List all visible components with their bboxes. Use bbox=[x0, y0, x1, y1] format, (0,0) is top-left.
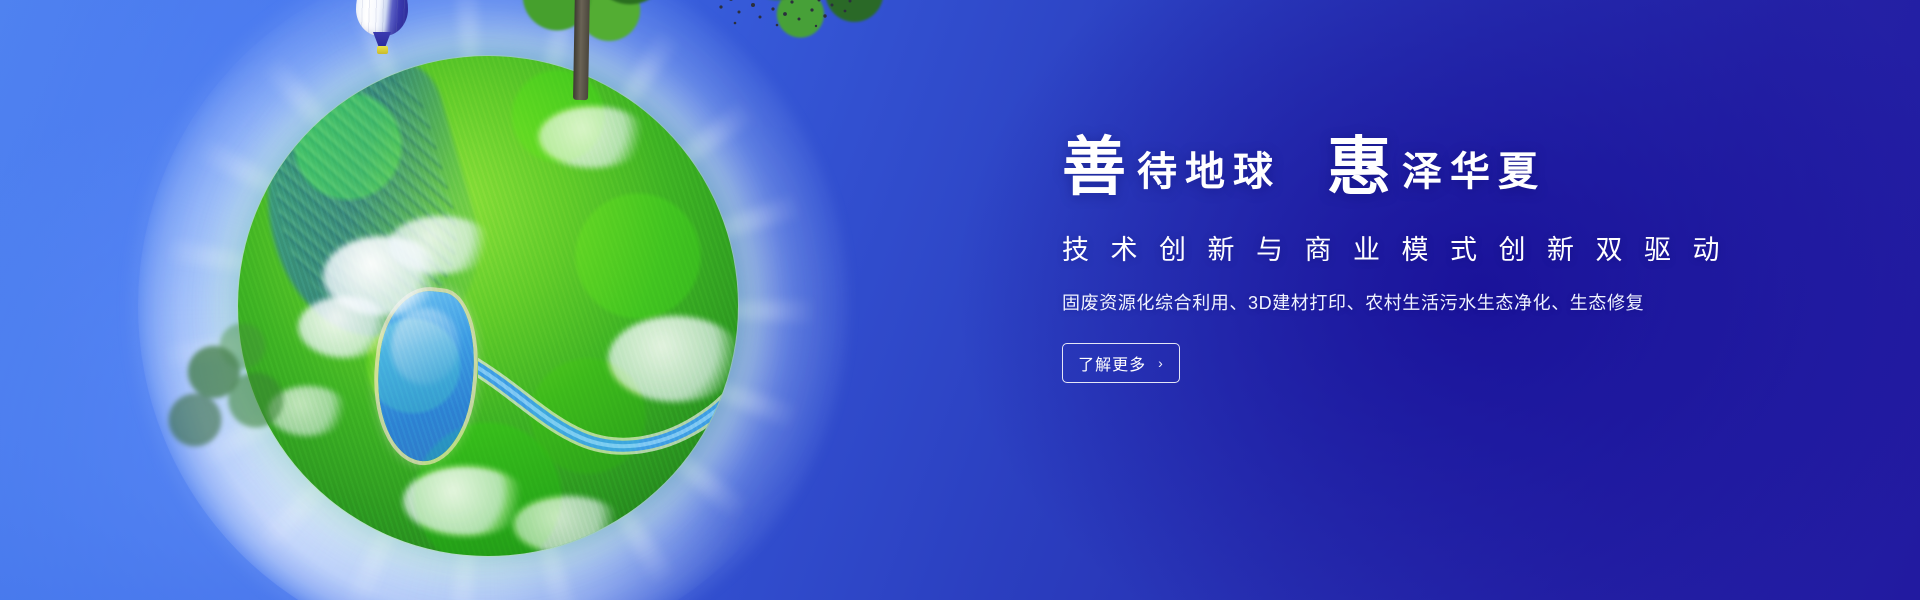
tree-silhouette-left bbox=[138, 296, 328, 496]
learn-more-label: 了解更多 bbox=[1078, 351, 1146, 375]
cloud bbox=[388, 216, 493, 274]
foreground-tree bbox=[448, 0, 708, 100]
mountain-ridge-texture bbox=[250, 67, 477, 335]
lake bbox=[369, 287, 481, 466]
hot-air-balloon bbox=[356, 0, 408, 60]
description: 固废资源化综合利用、3D建材打印、农村生活污水生态净化、生态修复 bbox=[1062, 289, 1802, 315]
cloud bbox=[608, 316, 738, 402]
river bbox=[478, 326, 738, 526]
balloon-basket bbox=[377, 46, 388, 54]
chevron-right-icon: › bbox=[1158, 356, 1164, 370]
headline-part2-secondary: 泽华夏 bbox=[1402, 152, 1546, 192]
balloon-envelope bbox=[356, 0, 408, 36]
page-title: 善 待地球 惠 泽华夏 bbox=[1062, 136, 1802, 200]
headline-part2-primary: 惠 bbox=[1327, 136, 1392, 200]
headline-part1-primary: 善 bbox=[1062, 136, 1127, 200]
tree-trunk bbox=[573, 0, 590, 100]
headline-part1-secondary: 待地球 bbox=[1137, 152, 1281, 192]
hero-content: 善 待地球 惠 泽华夏 技 术 创 新 与 商 业 模 式 创 新 双 驱 动 … bbox=[1062, 136, 1802, 383]
cloud bbox=[323, 236, 443, 316]
cloud bbox=[538, 106, 648, 168]
hero-banner: 善 待地球 惠 泽华夏 技 术 创 新 与 商 业 模 式 创 新 双 驱 动 … bbox=[0, 0, 1920, 600]
learn-more-button[interactable]: 了解更多 › bbox=[1062, 343, 1180, 383]
cloud bbox=[513, 496, 623, 554]
planet-artwork bbox=[118, 0, 858, 600]
subtitle: 技 术 创 新 与 商 业 模 式 创 新 双 驱 动 bbox=[1062, 228, 1802, 267]
cloud bbox=[403, 466, 528, 536]
bird-flock bbox=[713, 0, 853, 33]
